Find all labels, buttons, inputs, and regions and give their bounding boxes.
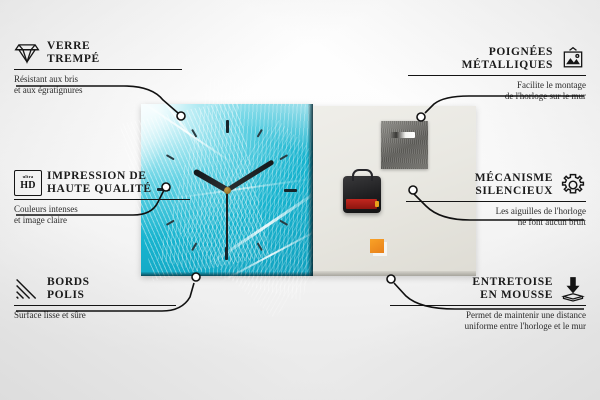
- feature-mecanisme-silencieux[interactable]: MÉCANISME SILENCIEUX Les aiguilles de l'…: [406, 172, 586, 228]
- divider: [406, 201, 586, 202]
- feature-header: VERRE TREMPÉ: [14, 40, 182, 66]
- feature-title: BORDS POLIS: [47, 276, 90, 302]
- divider: [14, 305, 176, 306]
- divider: [390, 305, 586, 306]
- feature-header: MÉCANISME SILENCIEUX: [406, 172, 586, 198]
- picture-hanger-icon: [560, 46, 586, 72]
- feature-bords-polis[interactable]: BORDS POLIS Surface lisse et sûre: [14, 276, 176, 321]
- feature-header: ENTRETOISE EN MOUSSE: [390, 276, 586, 302]
- clock-second-hand: [226, 190, 228, 250]
- feature-title: POIGNÉES MÉTALLIQUES: [462, 46, 553, 72]
- polished-edge-icon: [14, 276, 40, 302]
- feature-impression-haute-qualite[interactable]: ultra HD IMPRESSION DE HAUTE QUALITÉ Cou…: [14, 170, 190, 226]
- hour-mark: [226, 120, 228, 190]
- feature-header: BORDS POLIS: [14, 276, 176, 302]
- feature-header: ultra HD IMPRESSION DE HAUTE QUALITÉ: [14, 170, 190, 196]
- clock-center-hub: [224, 187, 231, 194]
- feature-poignees-metalliques[interactable]: POIGNÉES MÉTALLIQUES Facilite le montage…: [408, 46, 586, 102]
- metal-hanger-plate: [381, 121, 428, 169]
- feature-title: IMPRESSION DE HAUTE QUALITÉ: [47, 170, 152, 196]
- gear-icon: [560, 172, 586, 198]
- hour-mark: [227, 189, 297, 191]
- foam-spacer: [370, 239, 384, 253]
- hanger-slot: [390, 132, 415, 138]
- clock-mechanism-box: [343, 176, 381, 213]
- feature-title: ENTRETOISE EN MOUSSE: [472, 276, 553, 302]
- divider: [408, 75, 586, 76]
- infographic-stage: VERRE TREMPÉ Résistant aux bris et aux é…: [0, 0, 600, 400]
- feature-title: MÉCANISME SILENCIEUX: [475, 172, 553, 198]
- hanging-loop: [352, 169, 373, 181]
- divider: [14, 199, 190, 200]
- diamond-icon: [14, 40, 40, 66]
- feature-entretoise-en-mousse[interactable]: ENTRETOISE EN MOUSSE Permet de maintenir…: [390, 276, 586, 332]
- battery: [346, 199, 377, 209]
- feature-title: VERRE TREMPÉ: [47, 40, 100, 66]
- foam-spacer-icon: [560, 276, 586, 302]
- divider: [14, 69, 182, 70]
- ultra-hd-icon: ultra HD: [14, 170, 40, 196]
- feature-verre-trempe[interactable]: VERRE TREMPÉ Résistant aux bris et aux é…: [14, 40, 182, 96]
- feature-header: POIGNÉES MÉTALLIQUES: [408, 46, 586, 72]
